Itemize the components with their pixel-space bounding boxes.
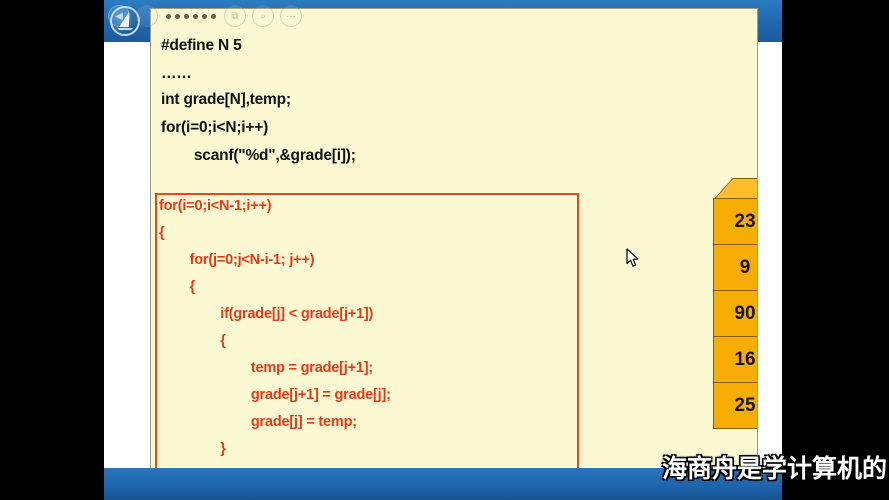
page-dot [166,14,171,19]
code-red-line-9: } [159,441,226,457]
code-line-ellipsis: …… [161,65,192,83]
array-cell-value: 16 [734,349,755,371]
array-cell-value: 23 [734,211,755,233]
array-cell-1: 9 [713,244,758,291]
array-stack-diagram: 23 9 90 16 2 [713,199,758,429]
code-red-line-2: for(j=0;j<N-i-1; j++) [159,252,314,268]
code-content-panel: …… #define N 5 …… int grade[N],temp; for… [150,8,758,500]
array-cell-value: 25 [734,395,755,417]
array-cell-2: 90 [713,290,758,337]
code-line-scanf: scanf("%d",&grade[i]); [161,147,356,165]
page-dot [184,14,189,19]
stack-top-face [713,178,758,200]
code-red-line-3: { [159,279,195,295]
code-red-line-6: temp = grade[j+1]; [159,360,373,376]
page-dot [193,14,198,19]
more-icon: ··· [286,11,296,22]
copy-button[interactable]: ⧉ [224,5,246,27]
code-line-input-for: for(i=0;i<N;i++) [161,119,268,137]
screen: …… #define N 5 …… int grade[N],temp; for… [0,0,889,500]
presentation-viewer-window: …… #define N 5 …… int grade[N],temp; for… [104,0,782,500]
array-cell-value: 9 [740,257,751,279]
back-icon: ◀ [115,11,123,22]
code-red-line-7: grade[j+1] = grade[j]; [159,387,391,403]
array-cell-4: 25 [713,382,758,429]
page-dots [164,14,218,19]
copy-icon: ⧉ [231,11,238,22]
viewer-controls: ◀ ⧉ ⌕ ··· [104,0,302,32]
highlighted-code-box: for(i=0;i<N-1;i++) { for(j=0;j<N-i-1; j+… [155,193,579,500]
code-line-define: #define N 5 [161,37,242,55]
code-red-line-5: { [159,333,226,349]
back-button[interactable]: ◀ [108,5,130,27]
search-icon: ⌕ [260,11,266,22]
search-button[interactable]: ⌕ [252,5,274,27]
array-cell-3: 16 [713,336,758,383]
page-dot [211,14,216,19]
page-dot [202,14,207,19]
viewer-bottom-bar [104,468,782,500]
code-line-declaration: int grade[N],temp; [161,91,291,109]
code-red-line-8: grade[j] = temp; [159,414,357,430]
page-dot [175,14,180,19]
code-red-line-0: for(i=0;i<N-1;i++) [159,198,271,214]
slide-canvas: …… #define N 5 …… int grade[N],temp; for… [104,42,782,500]
array-cell-value: 90 [734,303,755,325]
more-button[interactable]: ··· [280,5,302,27]
page-indicator-button[interactable] [136,5,158,27]
code-red-line-1: { [159,225,164,241]
array-cell-0: 23 [713,198,758,245]
code-red-line-4: if(grade[j] < grade[j+1]) [159,306,373,322]
